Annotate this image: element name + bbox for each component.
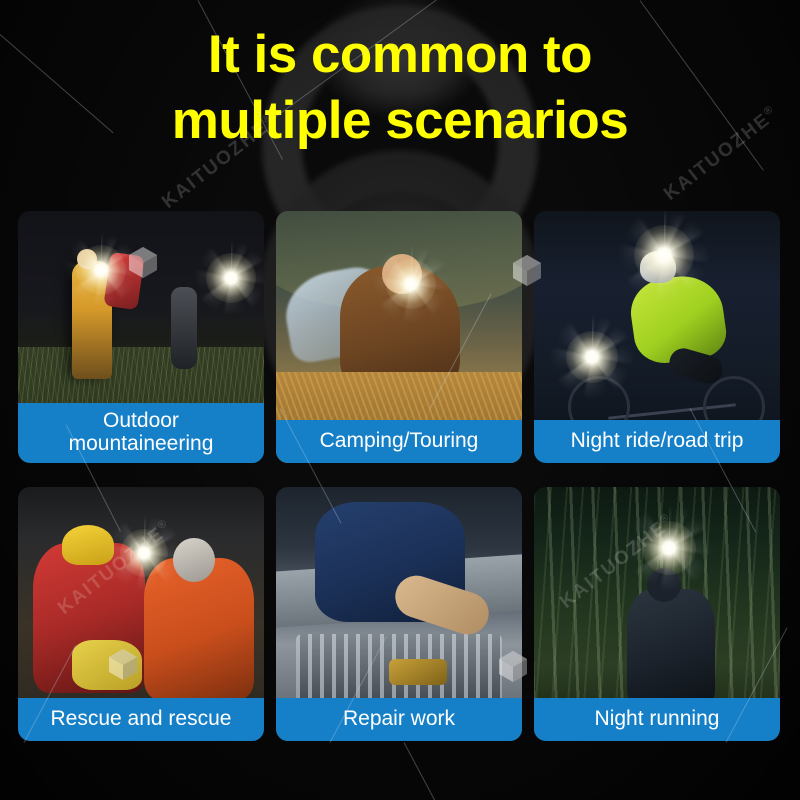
- cyclist-leg: [666, 345, 726, 387]
- scenario-tile-repair-work[interactable]: Repair work: [276, 487, 522, 741]
- hiker-figure-secondary: [171, 287, 197, 369]
- rescue-gear-bag: [72, 640, 142, 690]
- engine-component: [389, 659, 447, 685]
- scenario-tile-night-ride-road-trip[interactable]: Night ride/road trip: [534, 211, 780, 463]
- scenario-tile-outdoor-mountaineering[interactable]: Outdoor mountaineering: [18, 211, 264, 463]
- headlamp-beam-right: [206, 253, 256, 303]
- scenario-row-top: Outdoor mountaineering Camping/Touring: [18, 211, 782, 463]
- product-feature-banner: It is common to multiple scenarios Outdo…: [0, 0, 800, 800]
- scenario-caption-camping-touring: Camping/Touring: [276, 420, 522, 463]
- scenario-caption-repair-work: Repair work: [276, 698, 522, 741]
- scenario-tile-camping-touring[interactable]: Camping/Touring: [276, 211, 522, 463]
- scenario-caption-outdoor-mountaineering: Outdoor mountaineering: [18, 403, 264, 463]
- hiker-head: [77, 249, 97, 269]
- scenario-row-bottom: Rescue and rescue Repair work: [18, 487, 782, 741]
- scenario-caption-night-running: Night running: [534, 698, 780, 741]
- headlamp-beam-streaks-right: [194, 241, 264, 315]
- cyclist-head: [640, 251, 676, 283]
- scenario-tile-night-running[interactable]: Night running: [534, 487, 780, 741]
- scenario-caption-night-ride-road-trip: Night ride/road trip: [534, 420, 780, 463]
- page-title: It is common to multiple scenarios: [0, 22, 800, 153]
- camper-head: [382, 254, 422, 294]
- hiker-backpack: [103, 252, 144, 310]
- scenario-grid: Outdoor mountaineering Camping/Touring: [18, 211, 782, 765]
- rescuer-helmet-yellow: [62, 525, 114, 565]
- scenario-tile-rescue-and-rescue[interactable]: Rescue and rescue: [18, 487, 264, 741]
- rescuer-head-second: [173, 538, 215, 582]
- headlamp-beam-bike: [566, 331, 618, 383]
- scenario-caption-rescue-and-rescue: Rescue and rescue: [18, 698, 264, 741]
- runner-figure: [627, 589, 715, 709]
